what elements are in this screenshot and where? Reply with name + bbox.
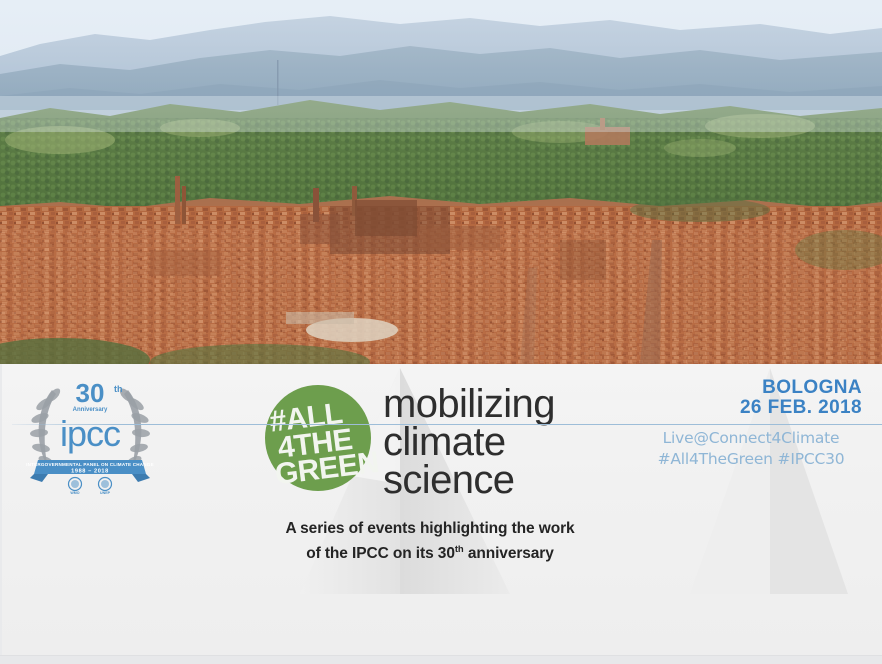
event-poster: 30 th Anniversary ipcc INTERGOVERNMENTAL… bbox=[0, 0, 882, 664]
social-handles: Live@Connect4Climate #All4TheGreen #IPCC… bbox=[620, 428, 882, 470]
hashtags[interactable]: #All4TheGreen #IPCC30 bbox=[620, 449, 882, 470]
event-date-block: BOLOGNA 26 FEB. 2018 bbox=[660, 378, 882, 418]
divider bbox=[12, 424, 882, 425]
subline-line-1: A series of events highlighting the work bbox=[225, 518, 635, 539]
bottom-band bbox=[0, 655, 882, 664]
ipcc-30th-anniversary-logo: 30 th Anniversary ipcc INTERGOVERNMENTAL… bbox=[22, 370, 158, 496]
event-city: BOLOGNA bbox=[660, 378, 862, 398]
event-date: 26 FEB. 2018 bbox=[660, 398, 862, 418]
event-description: A series of events highlighting the work… bbox=[225, 518, 635, 564]
svg-text:th: th bbox=[114, 384, 123, 394]
badge-text: #ALL 4THE GREEN bbox=[259, 379, 377, 497]
subline-after: anniversary bbox=[464, 545, 554, 562]
subline-before: of the IPCC on its 30 bbox=[306, 545, 455, 562]
svg-text:ipcc: ipcc bbox=[60, 413, 121, 454]
headline-line-1: mobilizing bbox=[383, 385, 683, 423]
svg-text:1988 – 2018: 1988 – 2018 bbox=[71, 469, 109, 475]
live-handle[interactable]: Live@Connect4Climate bbox=[620, 428, 882, 449]
aerial-view-of-bologna bbox=[0, 0, 882, 364]
svg-text:30: 30 bbox=[76, 378, 105, 408]
svg-text:WMO: WMO bbox=[70, 491, 79, 495]
svg-text:UNEP: UNEP bbox=[100, 491, 111, 495]
sponsor-logo-bar: THE WORLD BANK 4 CONNECT 4 CLIMATE bbox=[0, 578, 882, 664]
subline-line-2: of the IPCC on its 30th anniversary bbox=[225, 539, 635, 564]
svg-text:INTERGOVERNMENTAL PANEL ON CLI: INTERGOVERNMENTAL PANEL ON CLIMATE CHANG… bbox=[26, 462, 154, 467]
all4thegreen-badge[interactable]: #ALL 4THE GREEN bbox=[265, 385, 371, 491]
ordinal-suffix: th bbox=[455, 544, 464, 555]
